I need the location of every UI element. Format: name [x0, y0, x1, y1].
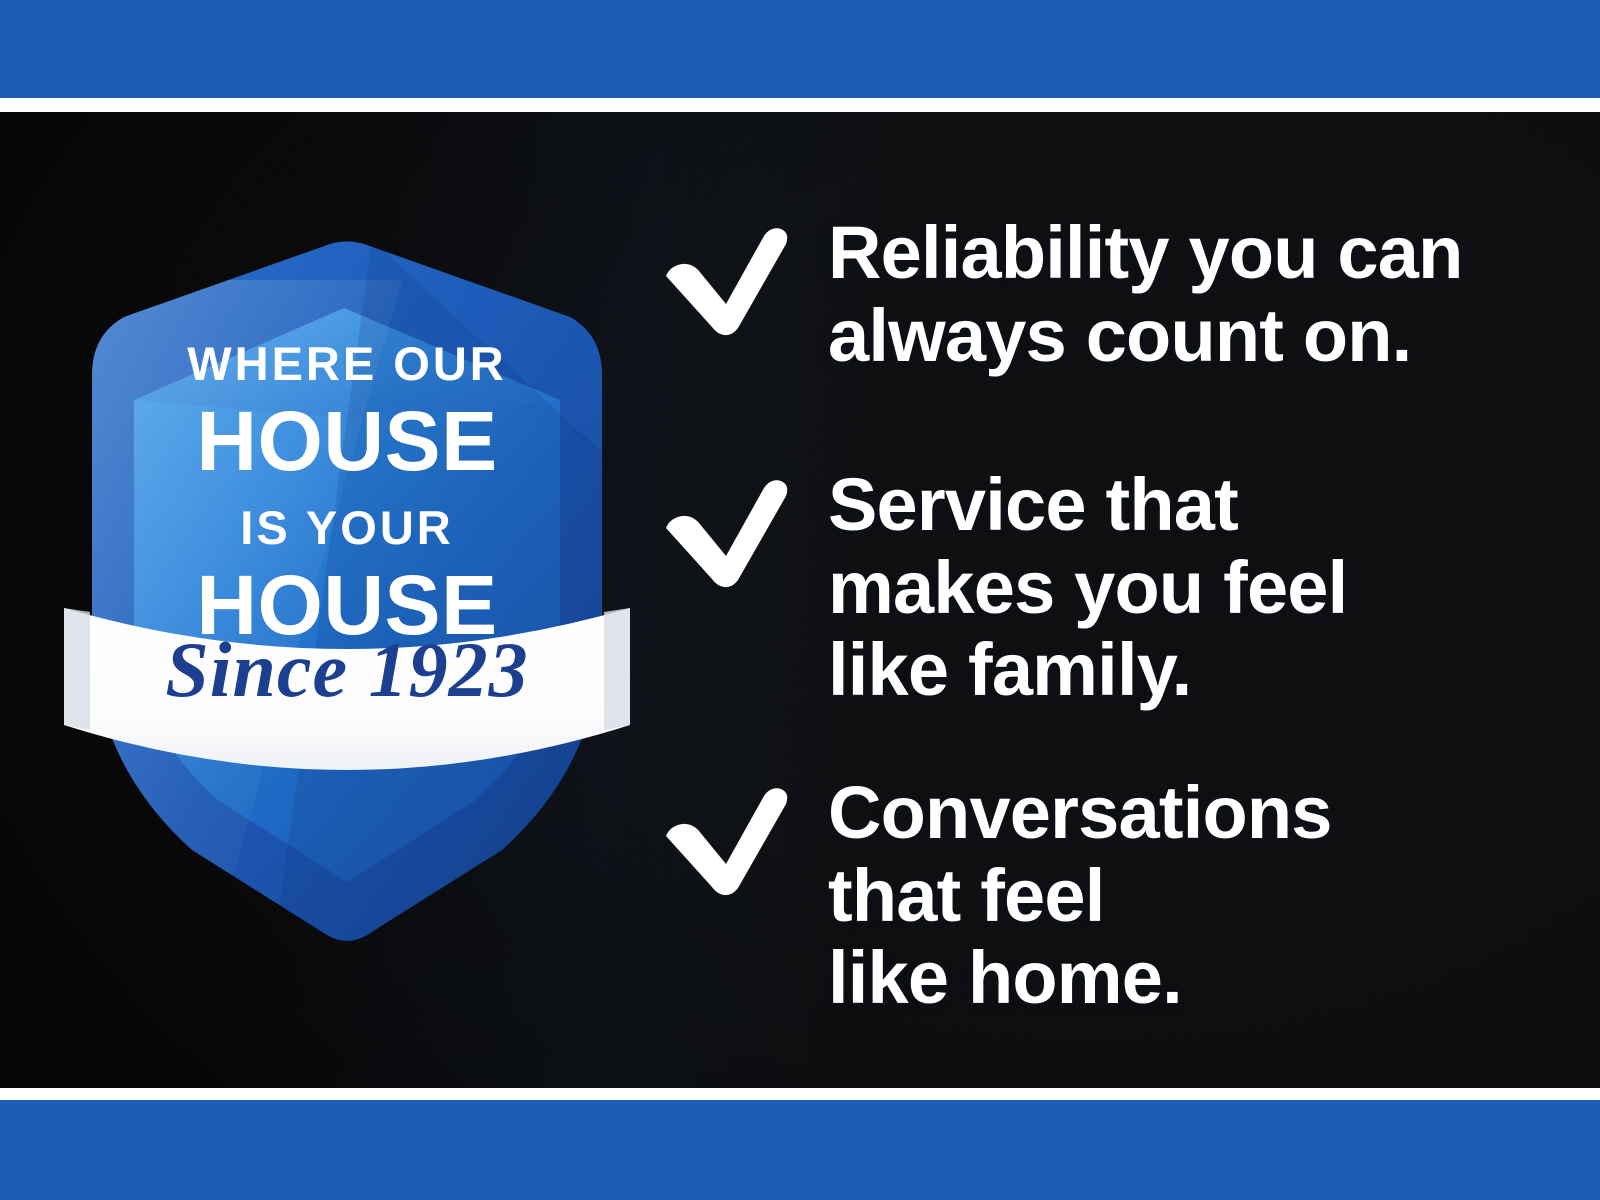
benefit-text-1: Reliability you can always count on. — [828, 212, 1463, 377]
benefit-text-3: Conversations that feel like home. — [828, 772, 1332, 1020]
promo-poster: WHERE OUR HOUSE IS YOUR HOUSE Since 1923… — [0, 0, 1600, 1200]
shield-badge: WHERE OUR HOUSE IS YOUR HOUSE Since 1923 — [72, 160, 622, 950]
badge-line-3: IS YOUR — [240, 501, 453, 554]
benefit-item-1: Reliability you can always count on. — [660, 212, 1463, 377]
check-icon — [660, 772, 828, 896]
check-icon — [660, 464, 828, 588]
benefits-list: Reliability you can always count on. Ser… — [660, 112, 1560, 1088]
badge-ribbon-fold-left — [64, 608, 90, 730]
badge-line-2: HOUSE — [196, 394, 497, 488]
top-brand-bar — [0, 0, 1600, 98]
badge-since-text: Since 1923 — [165, 626, 528, 713]
check-icon — [660, 212, 828, 336]
top-white-rule — [0, 98, 1600, 112]
badge-ribbon-fold-right — [604, 608, 630, 730]
badge-line-1: WHERE OUR — [187, 337, 506, 390]
benefit-item-3: Conversations that feel like home. — [660, 772, 1332, 1020]
bottom-brand-bar — [0, 1100, 1600, 1200]
benefit-text-2: Service that makes you feel like family. — [828, 464, 1347, 712]
benefit-item-2: Service that makes you feel like family. — [660, 464, 1347, 712]
bottom-white-rule — [0, 1088, 1600, 1100]
